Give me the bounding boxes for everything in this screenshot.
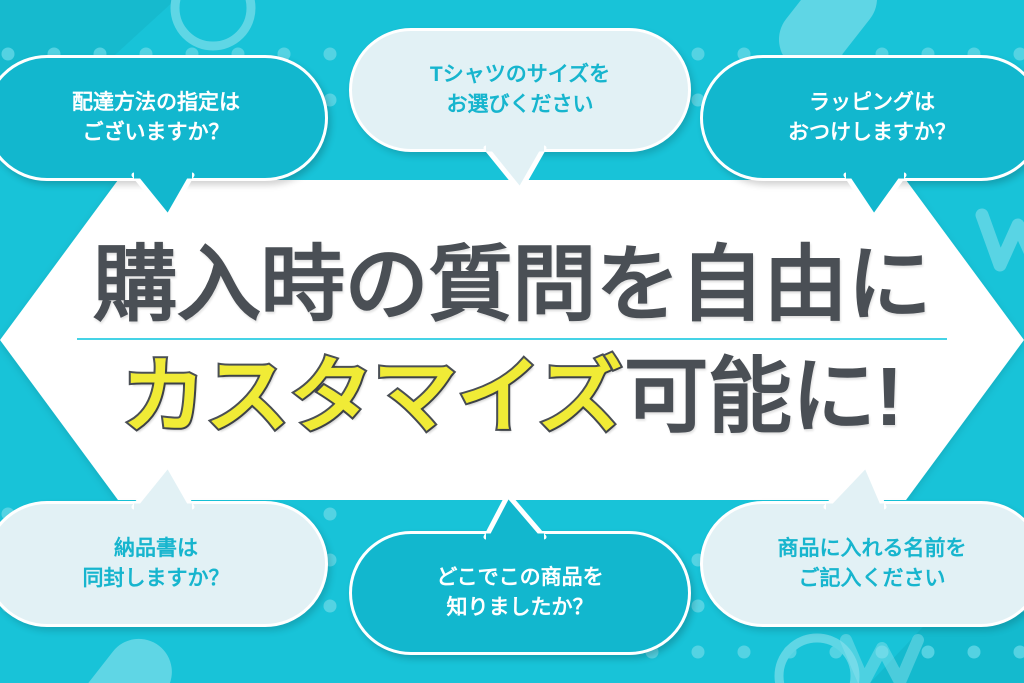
- bubble-delivery-method[interactable]: 配達方法の指定は ございますか？: [0, 55, 328, 181]
- bubble-gift-wrapping-text: ラッピングは おつけしますか？: [788, 88, 956, 148]
- bubble-how-found-product-text: どこでこの商品を 知りましたか？: [436, 563, 603, 623]
- headline-block: 購入時の質問を自由に カスタマイズ可能に!: [0, 180, 1024, 500]
- bubble-tail-how-found-product: [480, 492, 550, 540]
- headline-highlight-text: カスタマイズ: [121, 355, 621, 438]
- bubble-engraving-name[interactable]: 商品に入れる名前を ご記入ください: [700, 501, 1024, 627]
- bubble-tail-engraving-name: [820, 462, 890, 510]
- headline-divider: [77, 338, 947, 340]
- headline-line-2: カスタマイズ可能に!: [121, 348, 902, 444]
- bubble-tail-delivery-method: [128, 172, 198, 220]
- bubble-invoice-enclosure[interactable]: 納品書は 同封しますか？: [0, 501, 328, 627]
- poster-canvas: 購入時の質問を自由に カスタマイズ可能に! 配達方法の指定は ございますか？ T…: [0, 0, 1024, 683]
- bubble-delivery-method-text: 配達方法の指定は ございますか？: [72, 88, 240, 148]
- bubble-tshirt-size[interactable]: Tシャツのサイズを お選びください: [349, 28, 691, 152]
- bubble-invoice-enclosure-text: 納品書は 同封しますか？: [83, 534, 230, 594]
- bubble-tail-gift-wrapping: [840, 172, 910, 220]
- bubble-engraving-name-text: 商品に入れる名前を ご記入ください: [778, 534, 967, 594]
- bubble-how-found-product[interactable]: どこでこの商品を 知りましたか？: [349, 531, 691, 655]
- headline-plain-text: 可能に!: [624, 355, 903, 438]
- headline-line-1: 購入時の質問を自由に: [93, 236, 931, 332]
- bubble-gift-wrapping[interactable]: ラッピングは おつけしますか？: [700, 55, 1024, 181]
- bubble-tshirt-size-text: Tシャツのサイズを お選びください: [430, 60, 610, 120]
- bubble-tail-invoice-enclosure: [128, 462, 198, 510]
- bubble-tail-tshirt-size: [480, 145, 550, 193]
